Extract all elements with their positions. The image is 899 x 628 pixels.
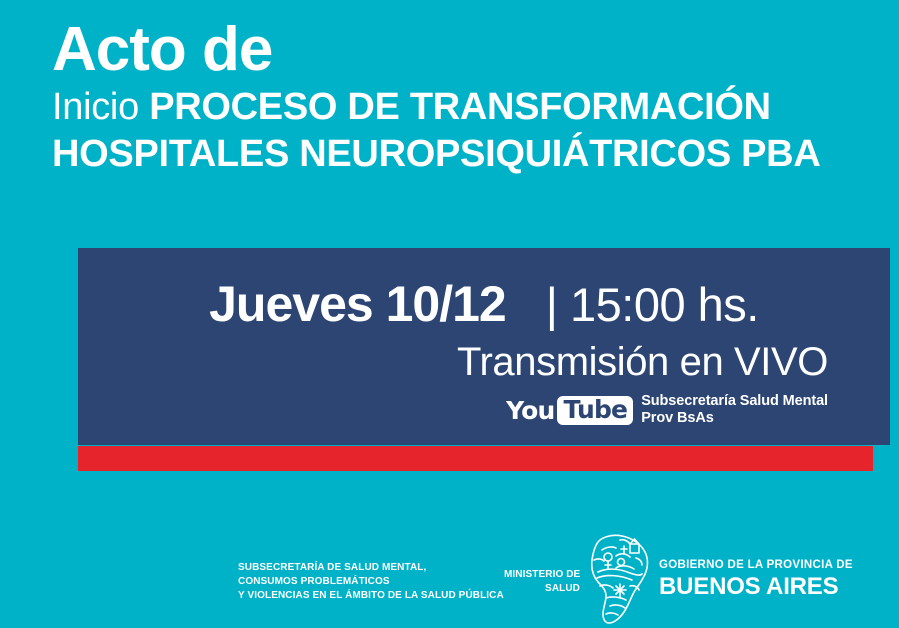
date-time-row: Jueves 10/12| 15:00 hs.	[78, 275, 890, 333]
buenos-aires-province-map-icon	[586, 528, 654, 628]
headline-inicio-word: Inicio	[52, 86, 139, 128]
ministerio-salud-label: MINISTERIO DE SALUD	[504, 568, 580, 596]
broadcast-label: Transmisión en VIVO	[78, 340, 828, 385]
subsecretaria-line-3: Y VIOLENCIAS EN EL ÁMBITO DE LA SALUD PÚ…	[238, 590, 504, 601]
youtube-channel-line2: Prov BsAs	[641, 410, 713, 426]
event-flyer: Acto de Inicio PROCESO DE TRANSFORMACIÓN…	[0, 0, 899, 628]
youtube-channel-row[interactable]: You Tube Subsecretaría Salud Mental Prov…	[78, 393, 828, 427]
youtube-channel-name: Subsecretaría Salud Mental Prov BsAs	[641, 393, 828, 427]
youtube-icon[interactable]: You Tube	[506, 396, 633, 425]
youtube-logo-box: Tube	[557, 396, 633, 425]
subsecretaria-label: SUBSECRETARÍA DE SALUD MENTAL, CONSUMOS …	[238, 561, 504, 604]
subsecretaria-line-2: CONSUMOS PROBLEMÁTICOS	[238, 576, 390, 587]
youtube-logo-tube: Tube	[563, 395, 627, 424]
youtube-logo-you: You	[506, 398, 554, 423]
red-accent-bar	[78, 446, 873, 471]
headline-primary: Acto de	[52, 18, 882, 81]
headline-block: Acto de Inicio PROCESO DE TRANSFORMACIÓN…	[52, 18, 882, 177]
headline-proceso-words: PROCESO DE TRANSFORMACIÓN	[149, 86, 771, 128]
subsecretaria-line-1: SUBSECRETARÍA DE SALUD MENTAL,	[238, 562, 426, 573]
gobierno-line-1: GOBIERNO DE LA PROVINCIA DE	[659, 559, 853, 573]
footer-logos: SUBSECRETARÍA DE SALUD MENTAL, CONSUMOS …	[0, 528, 899, 628]
event-time: | 15:00 hs.	[546, 278, 759, 331]
gobierno-provincia-label: GOBIERNO DE LA PROVINCIA DE BUENOS AIRES	[659, 559, 853, 600]
headline-secondary: Inicio PROCESO DE TRANSFORMACIÓN	[52, 85, 882, 130]
ministerio-line-2: SALUD	[545, 583, 580, 594]
event-date: Jueves 10/12	[209, 276, 506, 332]
ministerio-line-1: MINISTERIO DE	[504, 569, 580, 580]
youtube-channel-line1: Subsecretaría Salud Mental	[641, 393, 828, 409]
headline-tertiary: HOSPITALES NEUROPSIQUIÁTRICOS PBA	[52, 132, 882, 177]
gobierno-line-2: BUENOS AIRES	[659, 574, 853, 600]
event-details-panel: Jueves 10/12| 15:00 hs. Transmisión en V…	[78, 248, 890, 445]
